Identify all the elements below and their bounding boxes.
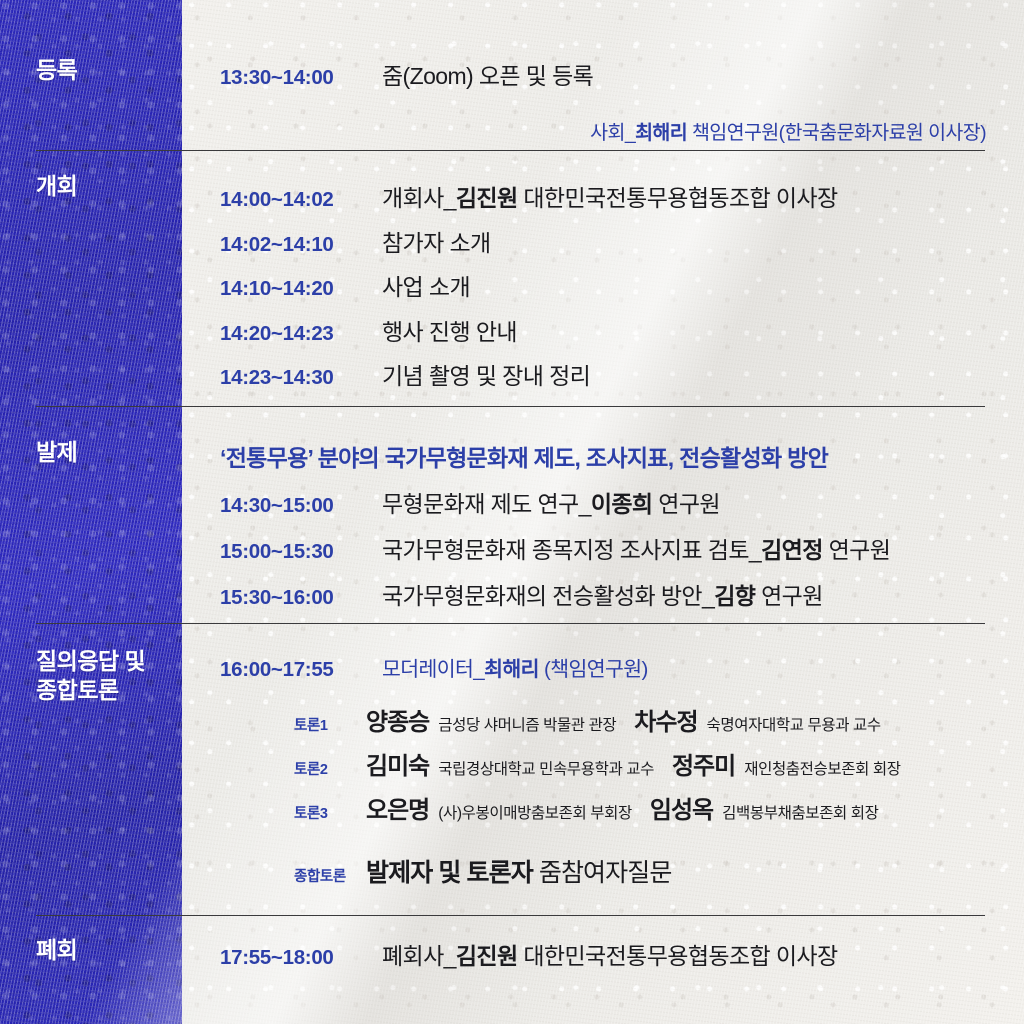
moderator-credit: 모더레이터_최해리 (책임연구원): [382, 652, 648, 682]
desc-opening-4: 행사 진행 안내: [382, 313, 517, 347]
sidebar-item-registration: 등록: [36, 56, 77, 85]
schedule-row-opening-5: 14:23~14:30 기념 촬영 및 장내 정리: [220, 357, 590, 391]
time-opening-3: 14:10~14:20: [220, 277, 366, 301]
desc-presentation-1-post: 연구원: [653, 491, 720, 517]
panel-3-person-2-affiliation: 김백봉부채춤보존회 회장: [722, 805, 878, 822]
desc-opening-1-name: 김진원: [456, 185, 518, 211]
panel-3-tag: 토론3: [294, 802, 352, 823]
schedule-row-opening-3: 14:10~14:20 사업 소개: [220, 268, 470, 302]
desc-closing: 폐회사_김진원 대한민국전통무용협동조합 이사장: [382, 937, 838, 971]
panel-1-person-1-affiliation: 금성당 샤머니즘 박물관 관장: [438, 717, 616, 734]
panel-2-body: 김미숙국립경상대학교 민속무용학과 교수정주미재인청춤전승보존회 회장: [366, 746, 901, 781]
mc-credit-line: 사회_최해리 책임연구원(한국춤문화자료원 이사장): [590, 116, 986, 145]
desc-closing-pre: 폐회사_: [382, 943, 456, 969]
panel-2-tag: 토론2: [294, 758, 352, 779]
schedule-row-opening-1: 14:00~14:02 개회사_김진원 대한민국전통무용협동조합 이사장: [220, 179, 838, 213]
schedule-row-presentation-3: 15:30~16:00 국가무형문화재의 전승활성화 방안_김향 연구원: [220, 577, 823, 611]
section-label-sidebar: [0, 0, 182, 1024]
divider-after-registration: [36, 150, 985, 151]
time-opening-2: 14:02~14:10: [220, 233, 366, 257]
mc-prefix: 사회_: [590, 122, 635, 144]
desc-closing-name: 김진원: [456, 943, 518, 969]
time-discussion: 16:00~17:55: [220, 658, 366, 682]
table-row-general-discussion: 종합토론 발제자 및 토론자 줌참여자질문: [294, 853, 671, 889]
general-discussion-body: 발제자 및 토론자 줌참여자질문: [366, 853, 671, 889]
desc-opening-5: 기념 촬영 및 장내 정리: [382, 357, 590, 391]
panel-3-person-1-affiliation: (사)우봉이매방춤보존회 부회장: [438, 805, 632, 822]
time-opening-1: 14:00~14:02: [220, 188, 366, 212]
desc-opening-3: 사업 소개: [382, 268, 470, 302]
desc-presentation-1-name: 이종희: [591, 491, 653, 517]
panel-2-person-1-affiliation: 국립경상대학교 민속무용학과 교수: [438, 761, 654, 778]
desc-registration: 줌(Zoom) 오픈 및 등록: [382, 57, 593, 91]
panel-2-person-1-name: 김미숙: [366, 753, 429, 780]
sidebar-item-opening: 개회: [36, 172, 77, 201]
schedule-row-opening-2: 14:02~14:10 참가자 소개: [220, 224, 491, 258]
desc-presentation-3: 국가무형문화재의 전승활성화 방안_김향 연구원: [382, 577, 823, 611]
panel-1-body: 양종승금성당 샤머니즘 박물관 관장차수정숙명여자대학교 무용과 교수: [366, 702, 881, 737]
desc-presentation-3-post: 연구원: [755, 583, 822, 609]
panel-3-person-2-name: 임성옥: [650, 797, 713, 824]
sidebar-item-closing: 폐회: [36, 936, 77, 965]
table-row-panel-1: 토론1 양종승금성당 샤머니즘 박물관 관장차수정숙명여자대학교 무용과 교수: [294, 702, 881, 737]
panel-1-person-1-name: 양종승: [366, 709, 429, 736]
desc-presentation-2-post: 연구원: [823, 537, 890, 563]
panel-2-person-2-affiliation: 재인청춤전승보존회 회장: [744, 761, 900, 778]
time-presentation-1: 14:30~15:00: [220, 494, 366, 518]
desc-opening-1-pre: 개회사_: [382, 185, 456, 211]
schedule-row-opening-4: 14:20~14:23 행사 진행 안내: [220, 313, 517, 347]
desc-presentation-2-pre: 국가무형문화재 종목지정 조사지표 검토_: [382, 537, 761, 563]
desc-presentation-2: 국가무형문화재 종목지정 조사지표 검토_김연정 연구원: [382, 531, 890, 565]
presentation-theme-title: ‘전통무용’ 분야의 국가무형문화재 제도, 조사지표, 전승활성화 방안: [220, 439, 828, 473]
divider-after-opening: [36, 406, 985, 407]
schedule-row-presentation-1: 14:30~15:00 무형문화재 제도 연구_이종희 연구원: [220, 485, 720, 519]
panel-3-body: 오은명(사)우봉이매방춤보존회 부회장임성옥김백봉부채춤보존회 회장: [366, 790, 879, 825]
panel-1-person-2-affiliation: 숙명여자대학교 무용과 교수: [707, 717, 881, 734]
moderator-suffix: (책임연구원): [539, 658, 648, 681]
time-opening-4: 14:20~14:23: [220, 322, 366, 346]
table-row-panel-3: 토론3 오은명(사)우봉이매방춤보존회 부회장임성옥김백봉부채춤보존회 회장: [294, 790, 879, 825]
moderator-prefix: 모더레이터_: [382, 658, 484, 681]
divider-after-discussion: [36, 915, 985, 916]
general-discussion-tag: 종합토론: [294, 865, 352, 886]
desc-opening-1-post: 대한민국전통무용협동조합 이사장: [518, 185, 838, 211]
panel-2-person-2-name: 정주미: [672, 753, 735, 780]
moderator-name: 최해리: [484, 658, 539, 681]
desc-presentation-1: 무형문화재 제도 연구_이종희 연구원: [382, 485, 720, 519]
time-closing: 17:55~18:00: [220, 946, 366, 970]
general-discussion-bold: 발제자 및 토론자: [366, 859, 533, 887]
general-discussion-light: 줌참여자질문: [533, 859, 672, 887]
divider-after-presentation: [36, 623, 985, 624]
desc-presentation-2-name: 김연정: [761, 537, 823, 563]
mc-name: 최해리: [635, 122, 687, 144]
time-registration: 13:30~14:00: [220, 66, 366, 90]
desc-opening-2: 참가자 소개: [382, 224, 491, 258]
desc-presentation-3-name: 김향: [714, 583, 755, 609]
table-row-panel-2: 토론2 김미숙국립경상대학교 민속무용학과 교수정주미재인청춤전승보존회 회장: [294, 746, 901, 781]
time-presentation-3: 15:30~16:00: [220, 586, 366, 610]
panel-1-tag: 토론1: [294, 714, 352, 735]
panel-3-person-1-name: 오은명: [366, 797, 429, 824]
sidebar-item-presentation: 발제: [36, 438, 77, 467]
time-presentation-2: 15:00~15:30: [220, 540, 366, 564]
desc-presentation-1-pre: 무형문화재 제도 연구_: [382, 491, 591, 517]
schedule-row-presentation-2: 15:00~15:30 국가무형문화재 종목지정 조사지표 검토_김연정 연구원: [220, 531, 890, 565]
desc-closing-post: 대한민국전통무용협동조합 이사장: [518, 943, 838, 969]
schedule-row-closing: 17:55~18:00 폐회사_김진원 대한민국전통무용협동조합 이사장: [220, 937, 838, 971]
time-opening-5: 14:23~14:30: [220, 366, 366, 390]
schedule-row-moderator: 16:00~17:55 모더레이터_최해리 (책임연구원): [220, 652, 648, 682]
mc-suffix: 책임연구원(한국춤문화자료원 이사장): [687, 122, 986, 144]
panel-1-person-2-name: 차수정: [634, 709, 697, 736]
program-schedule-poster: 등록 개회 발제 질의응답 및 종합토론 폐회 13:30~14:00 줌(Zo…: [0, 0, 1024, 1024]
desc-presentation-3-pre: 국가무형문화재의 전승활성화 방안_: [382, 583, 714, 609]
desc-opening-1: 개회사_김진원 대한민국전통무용협동조합 이사장: [382, 179, 838, 213]
sidebar-item-discussion: 질의응답 및 종합토론: [36, 647, 145, 706]
schedule-row-registration: 13:30~14:00 줌(Zoom) 오픈 및 등록: [220, 57, 593, 91]
